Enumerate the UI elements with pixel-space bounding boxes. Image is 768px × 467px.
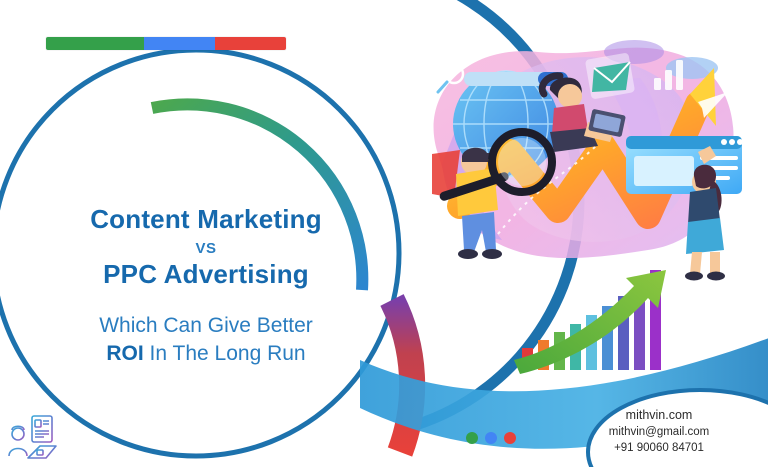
dot-green [466, 432, 478, 444]
contact-website[interactable]: mithvin.com [564, 406, 754, 424]
versus-label: VS [56, 240, 356, 257]
bar-segment-blue [144, 37, 215, 50]
contact-block: mithvin.com mithvin@gmail.com +91 90060 … [564, 406, 754, 457]
subtitle-line-2-rest: In The Long Run [150, 342, 306, 365]
banner-canvas: Content Marketing VS PPC Advertising Whi… [0, 0, 768, 467]
marketing-analytics-illustration [398, 34, 746, 304]
dot-blue [485, 432, 497, 444]
person-at-desk-with-document-icon [6, 412, 58, 462]
subtitle-block: Which Can Give Better ROI In The Long Ru… [56, 312, 356, 369]
title-line-2: PPC Advertising [56, 260, 356, 290]
three-color-dots [466, 432, 516, 444]
subtitle-highlight: ROI [106, 342, 143, 365]
contact-phone[interactable]: +91 90060 84701 [564, 440, 754, 457]
contact-email[interactable]: mithvin@gmail.com [564, 424, 754, 441]
tri-color-progress-bar [46, 37, 286, 50]
subtitle-line-2: ROI In The Long Run [56, 340, 356, 368]
bar-segment-green [46, 37, 144, 50]
envelope-icon [585, 52, 635, 99]
title-line-1: Content Marketing [56, 205, 356, 235]
dot-red [504, 432, 516, 444]
subtitle-line-1: Which Can Give Better [56, 312, 356, 340]
bar-segment-red [215, 37, 286, 50]
headline-block: Content Marketing VS PPC Advertising Whi… [56, 205, 356, 368]
